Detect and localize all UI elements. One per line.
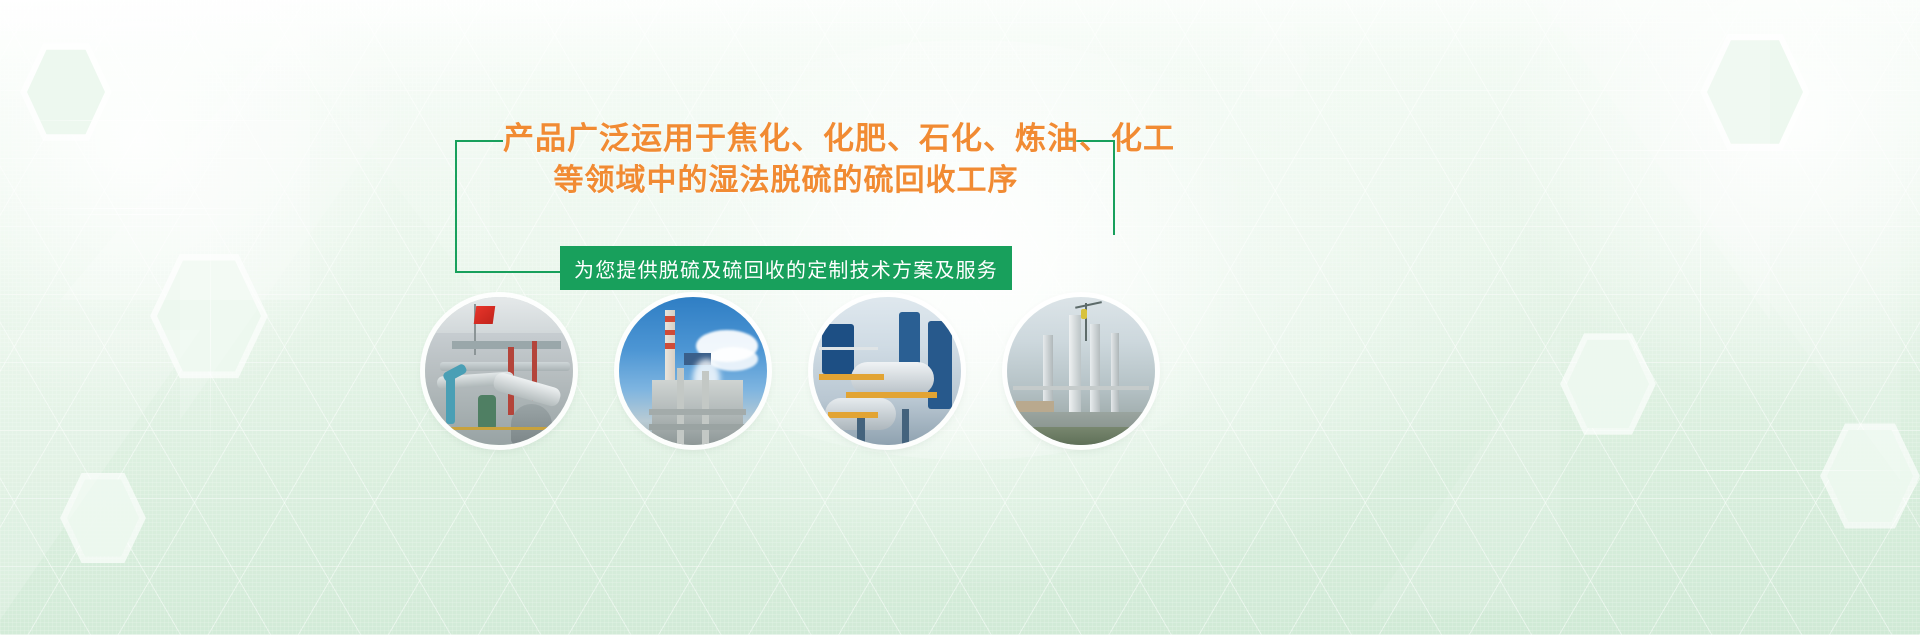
page-title: 产品广泛运用于焦化、化肥、石化、炼油、化工 等领域中的湿法脱硫的硫回收工序 [503,118,1069,202]
bracket-left-rule [455,140,457,273]
accent-stripe [1700,120,1701,460]
photo-storage-tanks-image [813,297,961,445]
accent-line [0,120,360,121]
photo-gallery [425,297,1155,445]
accent-line [0,208,300,209]
accent-line [40,214,280,215]
headline-line-2: 等领域中的湿法脱硫的硫回收工序 [503,160,1069,202]
triangle-decor [0,330,200,620]
triangle-decor [1370,330,1560,610]
bracket-bottom-segment [455,271,570,273]
hexagon-icon [1240,20,1310,100]
headline-line-1: 产品广泛运用于焦化、化肥、石化、炼油、化工 [503,118,1069,160]
photo-piping-plant[interactable] [425,297,573,445]
triangle-decor [1680,180,1900,480]
bracket-top-left-segment [455,140,503,142]
accent-line [1620,470,1920,471]
headline-block: 产品广泛运用于焦化、化肥、石化、炼油、化工 等领域中的湿法脱硫的硫回收工序 为您… [455,118,1115,278]
photo-refinery-towers[interactable] [1007,297,1155,445]
photo-smokestack-image [619,297,767,445]
accent-stripe [210,180,211,480]
photo-refinery-towers-image [1007,297,1155,445]
accent-line [1560,150,1920,151]
photo-smokestack[interactable] [619,297,767,445]
promo-banner: 产品广泛运用于焦化、化肥、石化、炼油、化工 等领域中的湿法脱硫的硫回收工序 为您… [0,0,1920,635]
photo-storage-tanks[interactable] [813,297,961,445]
photo-piping-plant-image [425,297,573,445]
subtitle-text: 为您提供脱硫及硫回收的定制技术方案及服务 [574,254,998,283]
subtitle-bar: 为您提供脱硫及硫回收的定制技术方案及服务 [560,246,1012,290]
